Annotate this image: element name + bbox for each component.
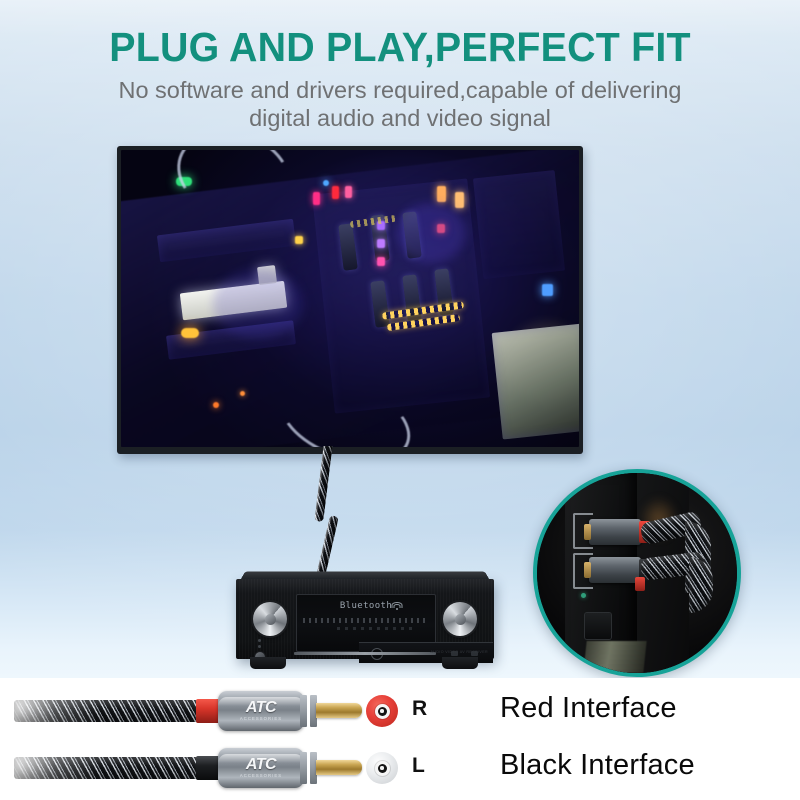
- product-image-canvas: PLUG AND PLAY,PERFECT FIT No software an…: [0, 0, 800, 800]
- mixer-led-magenta: [377, 257, 385, 266]
- jack-socket-white: [366, 752, 398, 784]
- inset-expansion-slot: [583, 641, 646, 673]
- inset-gold-ring-red: [584, 524, 591, 541]
- receiver-foot-left: [250, 657, 286, 669]
- subtitle-line-1: No software and drivers required,capable…: [60, 76, 740, 104]
- connector-ridge-red-1: [300, 695, 307, 727]
- inset-red-tab: [635, 577, 645, 591]
- receiver-display-indicators-2: [337, 627, 417, 630]
- mixer-led-yellow: [295, 236, 303, 244]
- mixer-led-orange-big: [181, 328, 199, 338]
- tv-screen: [121, 150, 579, 447]
- receiver-foot-right: [442, 657, 478, 669]
- mixer-led-amber-2: [455, 192, 464, 208]
- flat-screen-tv: [117, 146, 583, 454]
- mixer-led-blue: [323, 180, 329, 186]
- braided-cable-red: [14, 700, 200, 722]
- jack-pin-white: [380, 766, 384, 770]
- mixer-glow-2: [213, 269, 303, 339]
- interface-label-black: Black Interface: [500, 749, 695, 782]
- receiver-knob-left[interactable]: [253, 602, 287, 636]
- mixer-led-violet-2: [377, 239, 385, 248]
- gold-center-pin-black: [316, 760, 362, 775]
- connector-ridge-black-1: [300, 752, 307, 784]
- braided-cable-black: [14, 757, 200, 779]
- page-title: PLUG AND PLAY,PERFECT FIT: [16, 24, 784, 71]
- receiver-knob-right[interactable]: [443, 602, 477, 636]
- inset-gold-ring-black: [584, 562, 591, 579]
- knob-cap-right: [455, 614, 466, 625]
- receiver-front-panel: Bluetooth AUDIO VIDEO AV RECEIVER: [236, 579, 494, 659]
- atc-logo-sub-red: ACCESSORIES: [218, 716, 304, 721]
- av-receiver: Bluetooth AUDIO VIDEO AV RECEIVER: [236, 569, 494, 667]
- mixer-led-pink-2: [345, 186, 352, 198]
- receiver-display-window: Bluetooth: [296, 594, 436, 652]
- page-subtitle: No software and drivers required,capable…: [60, 76, 740, 132]
- atc-logo-black: ATC: [218, 757, 304, 772]
- mixer-led-pink-1: [313, 192, 320, 205]
- receiver-display-text: Bluetooth: [297, 601, 435, 615]
- channel-label-left: L: [412, 754, 442, 778]
- mixer-panel-d: [473, 170, 566, 279]
- atc-logo-sub-black: ACCESSORIES: [218, 773, 304, 778]
- cable-segment-upper: [314, 446, 333, 522]
- channel-label-red: R: [412, 697, 442, 721]
- gold-center-pin-red: [316, 703, 362, 718]
- legend-row-red: ATC ACCESSORIES R Red Interface: [0, 683, 800, 739]
- inset-rca-plug-red: [589, 519, 641, 545]
- jack-pin-red: [380, 709, 384, 713]
- legend-section: ATC ACCESSORIES R Red Interface ATC ACCE…: [0, 678, 800, 800]
- interface-label-red: Red Interface: [500, 692, 677, 725]
- receiver-accent-strip: [294, 652, 436, 655]
- inset-scene: [537, 473, 737, 673]
- rca-connector-barrel-red: ATC ACCESSORIES: [218, 691, 304, 731]
- rca-connector-barrel-black: ATC ACCESSORIES: [218, 748, 304, 788]
- jack-socket-red: [366, 695, 398, 727]
- atc-logo-red: ATC: [218, 700, 304, 715]
- legend-row-black: ATC ACCESSORIES L Black Interface: [0, 740, 800, 796]
- mixer-led-cyan: [542, 284, 553, 296]
- mixer-led-orange-3: [240, 391, 245, 396]
- subtitle-line-2: digital audio and video signal: [60, 104, 740, 132]
- inset-green-led: [581, 593, 586, 598]
- circular-zoom-inset: [533, 469, 741, 677]
- receiver-indicator-leds: [258, 639, 261, 651]
- knob-cap-left: [265, 614, 276, 625]
- mixer-glow-1: [396, 203, 466, 263]
- mixer-panel-c: [311, 178, 489, 413]
- braided-cable-drop: [300, 446, 364, 586]
- mixer-rack-right: [491, 324, 579, 440]
- receiver-brand-microtext: AUDIO VIDEO AV RECEIVER: [431, 650, 488, 654]
- wifi-dot: [396, 608, 398, 610]
- inset-rca-plug-black: [589, 557, 641, 583]
- mixer-led-red-1: [332, 186, 339, 199]
- mixer-led-amber-1: [437, 186, 446, 202]
- inset-connector-block: [585, 613, 611, 639]
- receiver-display-indicators: [303, 618, 429, 623]
- wifi-icon: [392, 602, 402, 611]
